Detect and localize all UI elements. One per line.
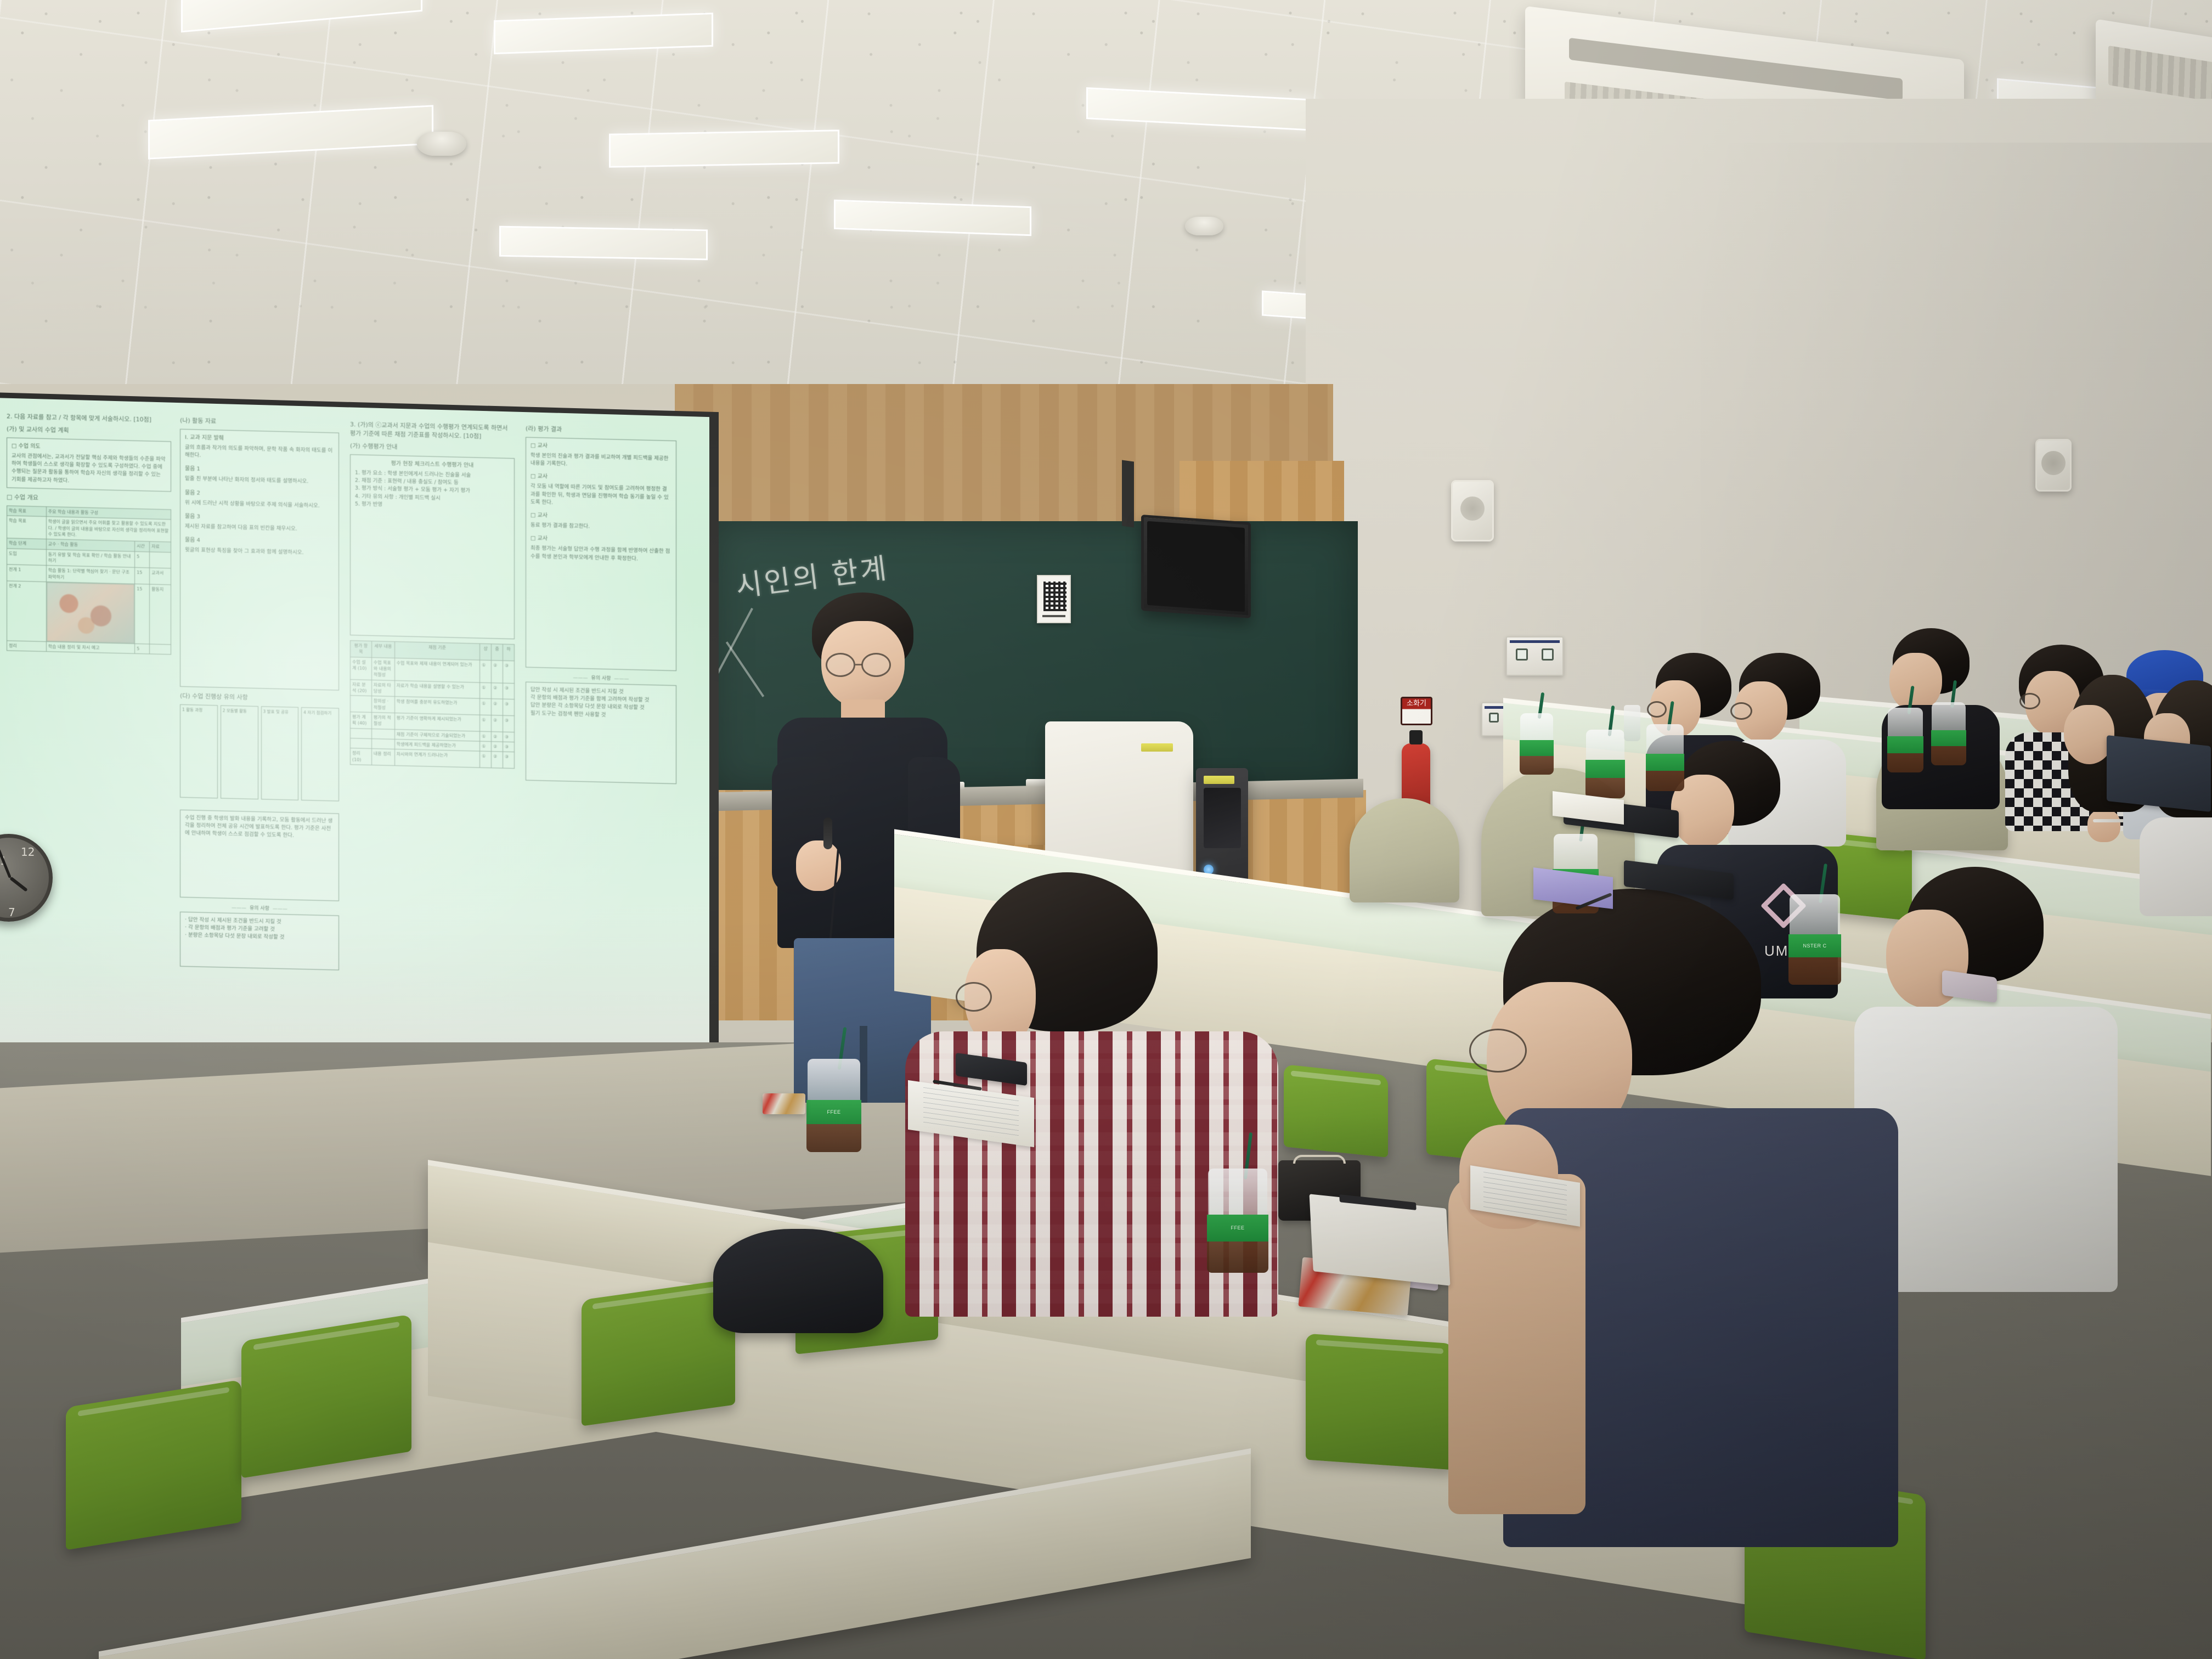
- cup-sleeve: [1646, 754, 1684, 771]
- power-socket[interactable]: [1516, 648, 1528, 661]
- activity-step: 1 활동 과정: [180, 704, 218, 799]
- table-cell: 5: [135, 644, 150, 654]
- slide-illustration: [47, 582, 134, 644]
- glasses: [2019, 693, 2040, 709]
- table-cell: 전개 2: [7, 581, 47, 642]
- cup-sleeve: [1931, 730, 1966, 747]
- glasses: [1730, 702, 1752, 720]
- tablet[interactable]: [2107, 735, 2211, 812]
- cup-ice: [1790, 894, 1840, 940]
- cup-ice: [1932, 702, 1965, 734]
- wall-mounted-display: [1141, 515, 1251, 618]
- rubric-cell: 평가 계획 (40): [351, 712, 372, 729]
- box-title: Ⅰ. 교과 지문 발췌: [185, 433, 334, 445]
- fire-extinguisher-sign: 소화기: [1401, 697, 1432, 725]
- rubric-cell: ①: [480, 741, 492, 752]
- slide-heading: (나) 활동 자료: [180, 416, 339, 429]
- snack-bag[interactable]: [763, 1093, 805, 1114]
- rubric-cell: 내용 정리: [371, 749, 394, 766]
- rubric-cell: ②: [492, 715, 503, 732]
- slide-column-2: (나) 활동 자료 Ⅰ. 교과 지문 발췌 글의 흐름과 작가의 의도를 파악하…: [180, 416, 339, 975]
- rubric-cell: ①: [480, 731, 492, 742]
- table-cell: 정리: [7, 641, 47, 652]
- ceiling-light-panel: [499, 226, 708, 261]
- slide-box: Ⅰ. 교과 지문 발췌 글의 흐름과 작가의 의도를 파악하며, 문학 작품 속…: [180, 429, 339, 691]
- cup-sleeve: [1887, 736, 1923, 753]
- table-header-cell: 학습 단계: [7, 538, 47, 549]
- rubric-cell: 학생 참여를 충분히 유도하였는가: [394, 697, 480, 715]
- slide-heading: 2. 다음 자료를 참고 / 각 항목에 맞게 서술하시오. [10점]: [7, 412, 171, 425]
- cup-sleeve: NSTER C: [1788, 934, 1841, 958]
- slide-table-label: □ 수업 개요: [7, 493, 171, 505]
- chair-upholstered[interactable]: [1350, 798, 1459, 902]
- box-body: 위 시에 드러난 시적 상황을 바탕으로 주제 의식을 서술하시오.: [185, 499, 334, 511]
- water-bottle[interactable]: [1624, 705, 1640, 741]
- box-body: 동료 평가 결과를 참고한다.: [531, 522, 672, 533]
- wall-speaker: [1451, 480, 1494, 541]
- cup-sleeve: [1585, 760, 1625, 778]
- table-cell: 학습 내용 정리 및 차시 예고: [46, 642, 134, 654]
- box-title: 물음 2: [185, 489, 334, 500]
- rubric-cell: [371, 739, 394, 749]
- rubric-header: 상: [480, 644, 492, 660]
- clock-numeral: 12: [21, 845, 35, 859]
- clock-numeral: 7: [8, 906, 15, 919]
- tv-wall-mount: [1122, 460, 1134, 527]
- slide-subheading: (다) 수업 진행상 유의 사항: [180, 692, 339, 704]
- table-cell: [150, 552, 171, 569]
- rubric-cell: ③: [503, 752, 515, 769]
- box-body: 윗글의 표현상 특징을 찾아 그 효과와 함께 설명하시오.: [185, 546, 334, 558]
- box-body: 학생 본인의 진술과 평가 결과를 비교하여 개별 피드백을 제공한 내용을 기…: [531, 452, 672, 471]
- rubric-cell: 평가 기준이 명확하게 제시되었는가: [394, 713, 480, 731]
- table-cell: 교과서: [150, 568, 171, 585]
- box-body: 최종 평가는 서술형 답안과 수행 과정을 함께 반영하여 산출한 점수를 학생…: [531, 545, 672, 564]
- iced-coffee-cup[interactable]: NSTER C: [1788, 894, 1841, 985]
- box-title: □ 교사: [531, 534, 672, 546]
- cup-ice: [1586, 730, 1624, 764]
- wall-speaker: [2035, 439, 2072, 492]
- presenter-glasses: [861, 653, 891, 677]
- paper-lines: [1483, 1172, 1567, 1220]
- rubric-header: 중: [492, 644, 503, 660]
- rubric-cell: [351, 738, 372, 749]
- rubric-cell: 자료가 학습 내용을 설명할 수 있는가: [394, 680, 480, 698]
- pouch-handle: [1293, 1155, 1346, 1164]
- box-title: 물음 1: [185, 465, 334, 476]
- slide-column-1: 2. 다음 자료를 참고 / 각 항목에 맞게 서술하시오. [10점] (가)…: [7, 412, 171, 654]
- rubric-header: 세부 내용: [371, 641, 394, 658]
- rubric-cell: ②: [492, 682, 503, 699]
- clipboard[interactable]: [1310, 1194, 1451, 1285]
- smoke-detector: [1185, 217, 1223, 235]
- notebook-lines: [923, 1087, 1019, 1141]
- box-title: 물음 3: [185, 512, 334, 524]
- box-body: 교사의 관점에서는, 교과서가 전달할 핵심 주제와 학생들의 수준을 파악하여…: [12, 452, 166, 487]
- rubric-header: 채점 기준: [394, 641, 480, 659]
- table-header-cell: 학습 목표: [7, 506, 47, 517]
- box-title: □ 교사: [531, 472, 672, 484]
- box-body: 수업 진행 중 학생의 발화 내용을 기록하고, 모둠 활동에서 드러난 생각을…: [185, 814, 334, 841]
- iced-coffee-cup[interactable]: [1931, 702, 1966, 765]
- rubric-cell: ②: [492, 731, 503, 742]
- table-cell: 도입: [7, 548, 47, 565]
- ac-vent-louvers: [2108, 46, 2212, 104]
- table-cell: 학습 목표: [7, 516, 47, 539]
- glasses: [1469, 1029, 1527, 1073]
- rubric-cell: ①: [480, 682, 492, 699]
- rubric-cell: ①: [480, 660, 492, 683]
- slide-column-3: 3. (가)의 ⓒ교과서 지문과 수업의 수행평가 연계되도록 하면서 평가 기…: [350, 420, 515, 769]
- slide-box: 답안 작성 시 제시된 조건을 반드시 지킬 것 각 문항의 배점과 평가 기준…: [526, 682, 676, 784]
- activity-step: 4 자기 점검하기: [301, 707, 339, 802]
- glasses: [956, 982, 992, 1012]
- box-body: 각 모둠 내 역할에 따른 기여도 및 참여도를 고려하여 평정한 결과를 확인…: [531, 483, 672, 510]
- chair[interactable]: [241, 1314, 411, 1478]
- power-socket[interactable]: [1489, 713, 1499, 723]
- box-body: 제시된 자료를 참고하여 다음 표의 빈칸을 채우시오.: [185, 523, 334, 534]
- box-body: · 답안 작성 시 제시된 조건을 반드시 지킬 것· 각 문항의 배점과 평가…: [185, 916, 334, 943]
- cup-sleeve: [1520, 740, 1554, 756]
- iced-coffee-cup[interactable]: FFEE: [1207, 1169, 1268, 1273]
- activity-step: 2 모둠별 활동: [221, 705, 258, 799]
- rubric-cell: 차시와의 연계가 드러나는가: [394, 749, 480, 768]
- rubric-cell: 정리 (10): [351, 748, 372, 765]
- wall-outlet-panel[interactable]: [1506, 636, 1564, 676]
- slide-heading: (라) 평가 결과: [526, 425, 676, 437]
- rubric-cell: ③: [503, 683, 515, 699]
- glasses: [1647, 701, 1667, 718]
- table-cell: [46, 582, 134, 644]
- table-cell: 학생이 글을 읽으면서 주요 어휘를 찾고 활용할 수 있도록 지도한다. / …: [46, 517, 171, 542]
- table-cell: 학습 활동 1: 단락별 핵심어 찾기 · 문단 구조 파악하기: [46, 566, 134, 584]
- box-title: □ 교사: [531, 511, 672, 523]
- lesson-plan-table: 학습 목표 주요 학습 내용과 활동 구성 학습 목표 학생이 글을 읽으면서 …: [7, 505, 171, 655]
- power-socket[interactable]: [1542, 648, 1554, 661]
- table-cell: 5: [135, 551, 150, 568]
- backpack[interactable]: [713, 1229, 883, 1333]
- rubric-header: 하: [503, 644, 515, 661]
- box-title: □ 수업 의도: [12, 442, 166, 454]
- qr-code-icon: [1043, 582, 1066, 611]
- rubric-cell: ③: [503, 715, 515, 732]
- rubric-cell: 수업 목표와 내용의 적절성: [371, 657, 394, 680]
- audience-member-2: [1426, 889, 1920, 1547]
- asset-label: [1141, 743, 1173, 752]
- rubric-cell: ①: [480, 698, 492, 715]
- rubric-header: 평가 항목: [351, 640, 372, 657]
- rubric-cell: 창의성 · 적절성: [371, 696, 394, 713]
- panel-label-bar: [1510, 640, 1560, 643]
- projection-screen: 2. 다음 자료를 참고 / 각 항목에 맞게 서술하시오. [10점] (가)…: [0, 398, 709, 1086]
- microphone[interactable]: [823, 817, 832, 849]
- cup-ice: [1888, 708, 1922, 740]
- cup-ice: [1554, 834, 1598, 874]
- ceiling-light-panel: [609, 129, 839, 167]
- iced-coffee-cup[interactable]: [1646, 724, 1684, 791]
- rubric-cell: 자료 분석 (20): [351, 679, 372, 696]
- rubric-cell: ②: [492, 660, 503, 683]
- iced-coffee-cup[interactable]: [1887, 708, 1923, 772]
- torso: [2140, 817, 2212, 916]
- chair[interactable]: [1284, 1064, 1388, 1158]
- rubric-cell: ①: [480, 752, 492, 768]
- lecture-hall-photo: 소화기 시인의 한계 2. 다음 자료를 참고 / 각 항목에 맞게 서술하시오…: [0, 0, 2212, 1659]
- slide-heading: 3. (가)의 ⓒ교과서 지문과 수업의 수행평가 연계되도록 하면서 평가 기…: [350, 420, 515, 442]
- rubric-cell: ③: [503, 699, 515, 715]
- slide-box: 수업 진행 중 학생의 발화 내용을 기록하고, 모둠 활동에서 드러난 생각을…: [180, 810, 339, 901]
- rubric-cell: 자료의 타당성: [371, 680, 394, 697]
- rubric-cell: 수업 목표와 제재 내용이 연계되어 있는가: [394, 658, 480, 682]
- table-cell: 15: [135, 568, 150, 584]
- smoke-detector: [417, 132, 466, 156]
- rubric-cell: 수업 설계 (10): [351, 657, 372, 680]
- clock-hour-hand: [9, 877, 28, 892]
- rubric-row: 수업 설계 (10) 수업 목표와 내용의 적절성 수업 목표와 제재 내용이 …: [351, 657, 515, 683]
- box-title: 물음 4: [185, 536, 334, 548]
- rubric-row: 정리 (10) 내용 정리 차시와의 연계가 드러나는가 ① ② ③: [351, 748, 515, 769]
- slide-box: · 답안 작성 시 제시된 조건을 반드시 지킬 것· 각 문항의 배점과 평가…: [180, 912, 339, 970]
- slide-box: □ 교사 학생 본인의 진술과 평가 결과를 비교하여 개별 피드백을 제공한 …: [526, 437, 676, 671]
- chair[interactable]: [66, 1380, 241, 1550]
- display-screen: [1147, 521, 1245, 612]
- slide-dash-title: 유의 사항: [526, 673, 676, 683]
- poster-caption-bar: [1042, 615, 1065, 617]
- cup-sleeve: FFEE: [1207, 1215, 1268, 1242]
- iced-coffee-cup[interactable]: [1585, 730, 1625, 798]
- activity-step-grid: 1 활동 과정 2 모둠별 활동 3 발표 및 공유 4 자기 점검하기: [180, 704, 339, 802]
- slide-box: 평가 현장 체크리스트 수행평가 안내 1. 평가 요소 : 학생 본인에게서 …: [350, 454, 515, 639]
- box-title: 평가 현장 체크리스트 수행평가 안내: [355, 459, 510, 471]
- iced-coffee-cup[interactable]: [1520, 713, 1554, 775]
- presenter-glasses: [826, 653, 855, 677]
- rubric-cell: ②: [492, 752, 503, 768]
- rubric-cell: ②: [492, 699, 503, 715]
- slide-box: □ 수업 의도 교사의 관점에서는, 교과서가 전달할 핵심 주제와 학생들의 …: [7, 437, 171, 492]
- qr-code-poster[interactable]: [1037, 575, 1071, 623]
- asset-label: [1204, 776, 1234, 784]
- table-header-cell: 시간: [135, 541, 150, 552]
- table-header-cell: 자료: [150, 541, 171, 552]
- table-cell: 15: [135, 584, 150, 644]
- iced-coffee-cup[interactable]: FFEE: [806, 1059, 861, 1152]
- lectern-touchscreen[interactable]: [1204, 788, 1241, 848]
- cup-ice: [1208, 1169, 1267, 1221]
- rubric-table: 평가 항목 세부 내용 채점 기준 상 중 하 수업 설계 (10) 수업 목표…: [350, 640, 515, 769]
- rubric-cell: ③: [503, 732, 515, 742]
- cup-sleeve: FFEE: [806, 1100, 861, 1124]
- rubric-cell: ③: [503, 742, 515, 752]
- box-body: 글의 흐름과 작가의 의도를 파악하며, 문학 작품 속 화자의 태도를 이해한…: [185, 444, 334, 463]
- box-body: 밑줄 친 부분에 나타난 화자의 정서와 태도를 설명하시오.: [185, 475, 334, 487]
- cup-ice: [808, 1059, 860, 1105]
- table-cell: 활동지: [150, 584, 171, 645]
- cup-ice: [1520, 713, 1553, 744]
- table-cell: [150, 644, 171, 654]
- slide-column-4: (라) 평가 결과 □ 교사 학생 본인의 진술과 평가 결과를 비교하여 개별…: [526, 425, 676, 789]
- slide-subheading: (가) 및 교사의 수업 계획: [7, 425, 171, 437]
- slide-dash-title: 유의 사항: [180, 902, 339, 913]
- rubric-cell: [351, 728, 372, 738]
- table-cell: 동기 유발 및 학습 목표 확인 / 학습 활동 안내하기: [46, 549, 134, 568]
- table-cell: 전개 1: [7, 565, 47, 582]
- activity-step: 3 발표 및 공유: [261, 706, 299, 800]
- rubric-cell: 평가의 적절성: [371, 713, 394, 730]
- rubric-cell: ①: [480, 715, 492, 731]
- cup-ice: [1646, 724, 1683, 758]
- box-title: □ 교사: [531, 442, 672, 453]
- chair[interactable]: [582, 1278, 735, 1426]
- rubric-cell: ②: [492, 742, 503, 752]
- glasses-bridge: [855, 664, 862, 665]
- slide-subheading: (가) 수행평가 안내: [350, 442, 515, 454]
- rubric-cell: ③: [503, 661, 515, 684]
- rubric-cell: [351, 696, 372, 713]
- rubric-cell: [371, 729, 394, 739]
